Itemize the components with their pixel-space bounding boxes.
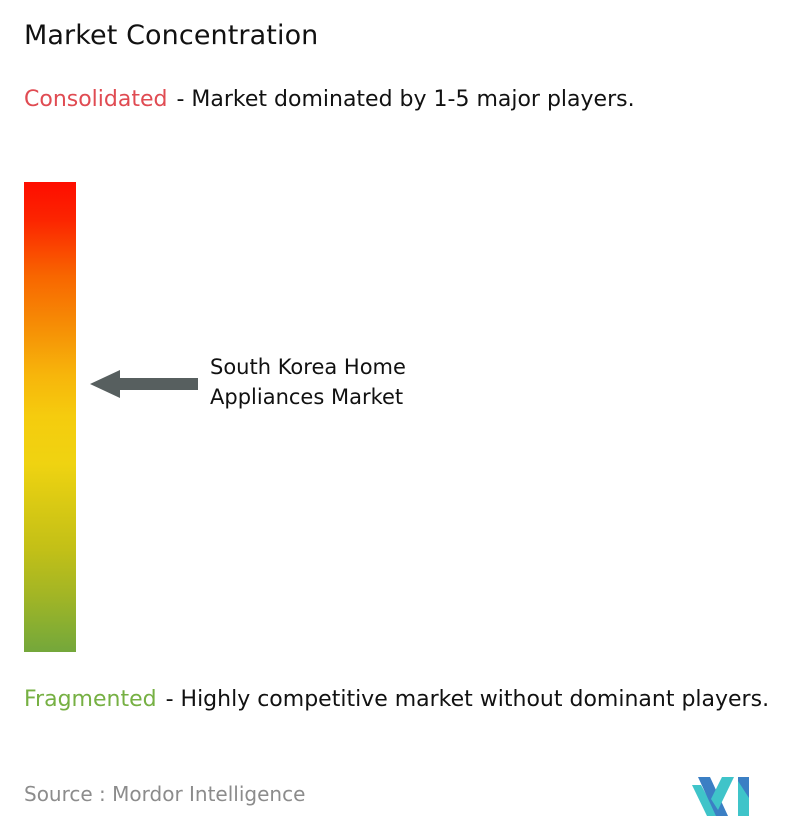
legend-consolidated: Consolidated- Market dominated by 1-5 ma… <box>24 84 764 115</box>
page-title: Market Concentration <box>24 20 318 51</box>
mordor-intelligence-logo <box>692 772 754 816</box>
market-marker-label: South Korea Home Appliances Market <box>210 352 510 413</box>
legend-key-fragmented: Fragmented <box>24 687 157 712</box>
source-attribution: Source : Mordor Intelligence <box>24 782 305 806</box>
left-arrow-icon <box>90 369 198 399</box>
legend-description-fragmented: - Highly competitive market without domi… <box>166 687 769 712</box>
market-marker-group: South Korea Home Appliances Market <box>90 355 510 417</box>
legend-key-consolidated: Consolidated <box>24 87 167 112</box>
market-concentration-gradient-bar <box>24 182 76 652</box>
legend-fragmented: Fragmented- Highly competitive market wi… <box>24 684 784 715</box>
footer: Source : Mordor Intelligence <box>24 778 778 822</box>
legend-description-consolidated: - Market dominated by 1-5 major players. <box>176 87 634 112</box>
